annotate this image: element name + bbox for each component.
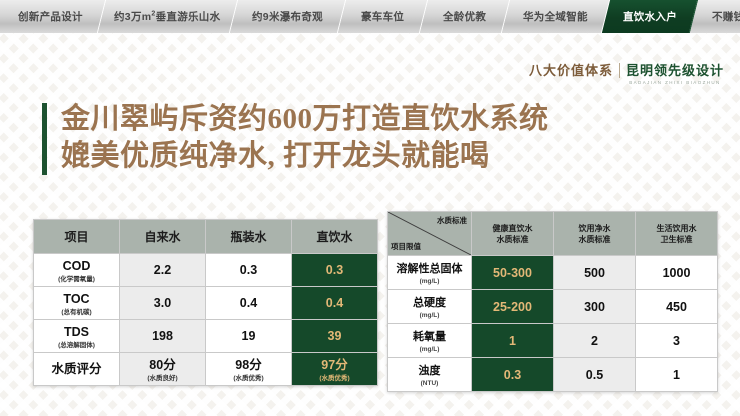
nav-item-1[interactable]: 约3万m2垂直游乐山水 (98, 0, 238, 33)
row-label-hardness-main: 总硬度 (413, 297, 446, 309)
table-right-header-domestic: 生活饮用水 卫生标准 (636, 212, 718, 256)
nav-item-0-label: 创新产品设计 (18, 9, 83, 24)
cell-tds-bottled-value: 19 (242, 329, 256, 343)
cell-tds-direct-value: 39 (328, 329, 342, 343)
cell-cod-direct-value: 0.3 (326, 263, 343, 277)
row-label-oxygen-main: 耗氧量 (413, 331, 446, 343)
cell-tds-total-purified-value: 500 (584, 266, 605, 280)
cell-tds-tap-value: 198 (152, 329, 173, 343)
row-label-tds-total-main: 溶解性总固体 (397, 263, 463, 275)
row-label-turbidity-unit: (NTU) (388, 379, 471, 388)
cell-hardness-domestic-value: 450 (666, 300, 687, 314)
cell-cod-bottled: 0.3 (206, 254, 292, 287)
row-label-turbidity: 浊度 (NTU) (388, 358, 472, 392)
headline-lines: 金川翠屿斥资约600万打造直饮水系统 媲美优质纯净水, 打开龙头就能喝 (61, 101, 549, 175)
cell-turbidity-domestic-value: 1 (673, 368, 680, 382)
row-label-cod: COD (化学需氧量) (34, 254, 120, 287)
cell-score-tap: 80分 (水质良好) (120, 353, 206, 386)
nav-item-2-label: 约9米瀑布奇观 (252, 9, 323, 24)
header-domestic-line1: 生活饮用水 (636, 223, 717, 234)
cell-score-tap-value: 80分 (149, 358, 175, 372)
cell-tds-total-purified: 500 (554, 256, 636, 290)
header-healthy-line1: 健康直饮水 (472, 223, 553, 234)
cell-toc-bottled: 0.4 (206, 287, 292, 320)
water-standards-table: 水质标准 项目限值 健康直饮水 水质标准 饮用净水 水质标准 生活饮用水 卫生标… (387, 211, 718, 392)
row-label-score: 水质评分 (34, 353, 120, 386)
cell-turbidity-healthy: 0.3 (472, 358, 554, 392)
top-navigation-bar: 创新产品设计 约3万m2垂直游乐山水 约9米瀑布奇观 豪车车位 全龄优教 华为全… (0, 0, 740, 33)
corner-top-label: 水质标准 (437, 215, 467, 226)
table-row: 耗氧量 (mg/L) 1 2 3 (388, 324, 718, 358)
row-label-score-main: 水质评分 (51, 362, 101, 376)
nav-item-3-label: 豪车车位 (361, 9, 404, 24)
table-row: TDS (总溶解固体) 198 19 39 (34, 320, 378, 353)
row-label-toc-main: TOC (63, 292, 89, 306)
row-label-tds-total: 溶解性总固体 (mg/L) (388, 256, 472, 290)
headline-line-2: 媲美优质纯净水, 打开龙头就能喝 (61, 138, 549, 175)
cell-toc-tap: 3.0 (120, 287, 206, 320)
cell-oxygen-domestic: 3 (636, 324, 718, 358)
cell-hardness-domestic: 450 (636, 290, 718, 324)
cell-hardness-healthy: 25-200 (472, 290, 554, 324)
water-comparison-table: 项目 自来水 瓶装水 直饮水 COD (化学需氧量) 2.2 0.3 0.3 T… (33, 219, 378, 386)
cell-toc-bottled-value: 0.4 (240, 296, 257, 310)
nav-item-7-label: 不赚钱物业 (712, 9, 740, 24)
cell-tds-tap: 198 (120, 320, 206, 353)
cell-cod-tap-value: 2.2 (154, 263, 171, 277)
cell-turbidity-purified: 0.5 (554, 358, 636, 392)
cell-tds-total-domestic: 1000 (636, 256, 718, 290)
cell-toc-tap-value: 3.0 (154, 296, 171, 310)
cell-cod-direct: 0.3 (292, 254, 378, 287)
header-healthy-line2: 水质标准 (472, 234, 553, 245)
nav-item-5-label: 华为全域智能 (523, 9, 588, 24)
nav-item-6-label: 直饮水入户 (623, 9, 677, 24)
cell-hardness-purified: 300 (554, 290, 636, 324)
headline-block: 金川翠屿斥资约600万打造直饮水系统 媲美优质纯净水, 打开龙头就能喝 (42, 101, 549, 175)
cell-oxygen-healthy-value: 1 (509, 334, 516, 348)
row-label-cod-main: COD (63, 259, 91, 273)
cell-oxygen-purified-value: 2 (591, 334, 598, 348)
row-label-tds-main: TDS (64, 325, 89, 339)
row-label-oxygen: 耗氧量 (mg/L) (388, 324, 472, 358)
cell-tds-direct: 39 (292, 320, 378, 353)
row-label-toc-sub: (总有机碳) (34, 308, 119, 317)
cell-score-direct-value: 97分 (321, 358, 347, 372)
brand-divider (619, 63, 620, 78)
cell-score-bottled-value: 98分 (235, 358, 261, 372)
nav-item-7[interactable]: 不赚钱物业 (690, 0, 740, 33)
cell-score-bottled: 98分 (水质优秀) (206, 353, 292, 386)
table-right-header-row: 水质标准 项目限值 健康直饮水 水质标准 饮用净水 水质标准 生活饮用水 卫生标… (388, 212, 718, 256)
table-row: 浊度 (NTU) 0.3 0.5 1 (388, 358, 718, 392)
cell-oxygen-purified: 2 (554, 324, 636, 358)
nav-item-3[interactable]: 豪车车位 (338, 0, 428, 33)
brand-eyebrow: 八大价值体系 昆明领先级设计 BADAJIAN ZHIXI BIAOZHUN (529, 62, 724, 85)
cell-cod-bottled-value: 0.3 (240, 263, 257, 277)
row-label-cod-sub: (化学需氧量) (34, 275, 119, 284)
table-row: 溶解性总固体 (mg/L) 50-300 500 1000 (388, 256, 718, 290)
table-right-header-purified: 饮用净水 水质标准 (554, 212, 636, 256)
table-left-header-direct: 直饮水 (292, 220, 378, 254)
corner-bottom-label: 项目限值 (391, 241, 421, 252)
cell-hardness-purified-value: 300 (584, 300, 605, 314)
cell-score-direct: 97分 (水质优秀) (292, 353, 378, 386)
cell-tds-total-healthy-value: 50-300 (493, 266, 532, 280)
nav-item-5[interactable]: 华为全域智能 (502, 0, 610, 33)
cell-score-bottled-note: (水质优秀) (206, 374, 291, 383)
brand-subtitle-group: 昆明领先级设计 BADAJIAN ZHIXI BIAOZHUN (626, 62, 724, 85)
table-right-header-healthy: 健康直饮水 水质标准 (472, 212, 554, 256)
row-label-turbidity-main: 浊度 (419, 365, 441, 377)
cell-score-direct-note: (水质优秀) (292, 374, 377, 383)
cell-score-tap-note: (水质良好) (120, 374, 205, 383)
header-purified-line1: 饮用净水 (554, 223, 635, 234)
cell-oxygen-healthy: 1 (472, 324, 554, 358)
table-row: COD (化学需氧量) 2.2 0.3 0.3 (34, 254, 378, 287)
cell-cod-tap: 2.2 (120, 254, 206, 287)
cell-turbidity-domestic: 1 (636, 358, 718, 392)
cell-toc-direct-value: 0.4 (326, 296, 343, 310)
row-label-toc: TOC (总有机碳) (34, 287, 120, 320)
brand-title: 八大价值体系 (529, 62, 613, 79)
cell-turbidity-purified-value: 0.5 (586, 368, 603, 382)
cell-hardness-healthy-value: 25-200 (493, 300, 532, 314)
nav-item-6-active[interactable]: 直饮水入户 (602, 0, 698, 33)
row-label-tds: TDS (总溶解固体) (34, 320, 120, 353)
table-right-corner-cell: 水质标准 项目限值 (388, 212, 472, 256)
headline-accent-bar (42, 103, 47, 175)
nav-item-2[interactable]: 约9米瀑布奇观 (230, 0, 346, 33)
cell-turbidity-healthy-value: 0.3 (504, 368, 521, 382)
cell-tds-total-healthy: 50-300 (472, 256, 554, 290)
nav-item-1-label: 约3万m2垂直游乐山水 (114, 9, 220, 24)
nav-item-4-label: 全龄优教 (443, 9, 486, 24)
table-row: TOC (总有机碳) 3.0 0.4 0.4 (34, 287, 378, 320)
nav-item-4[interactable]: 全龄优教 (420, 0, 510, 33)
row-label-oxygen-unit: (mg/L) (388, 345, 471, 354)
row-label-tds-total-unit: (mg/L) (388, 277, 471, 286)
table-left-header-tap: 自来水 (120, 220, 206, 254)
header-domestic-line2: 卫生标准 (636, 234, 717, 245)
cell-toc-direct: 0.4 (292, 287, 378, 320)
cell-tds-bottled: 19 (206, 320, 292, 353)
row-label-hardness: 总硬度 (mg/L) (388, 290, 472, 324)
table-left-header-item: 项目 (34, 220, 120, 254)
header-purified-line2: 水质标准 (554, 234, 635, 245)
cell-oxygen-domestic-value: 3 (673, 334, 680, 348)
table-row: 总硬度 (mg/L) 25-200 300 450 (388, 290, 718, 324)
brand-subtitle: 昆明领先级设计 (626, 62, 724, 79)
row-label-hardness-unit: (mg/L) (388, 311, 471, 320)
row-label-tds-sub: (总溶解固体) (34, 341, 119, 350)
headline-line-1: 金川翠屿斥资约600万打造直饮水系统 (61, 101, 549, 138)
brand-subtitle-romanization: BADAJIAN ZHIXI BIAOZHUN (629, 80, 720, 85)
table-left-header-bottled: 瓶装水 (206, 220, 292, 254)
table-row: 水质评分 80分 (水质良好) 98分 (水质优秀) 97分 (水质优秀) (34, 353, 378, 386)
table-left-header-row: 项目 自来水 瓶装水 直饮水 (34, 220, 378, 254)
cell-tds-total-domestic-value: 1000 (663, 266, 691, 280)
nav-item-0[interactable]: 创新产品设计 (0, 0, 106, 33)
